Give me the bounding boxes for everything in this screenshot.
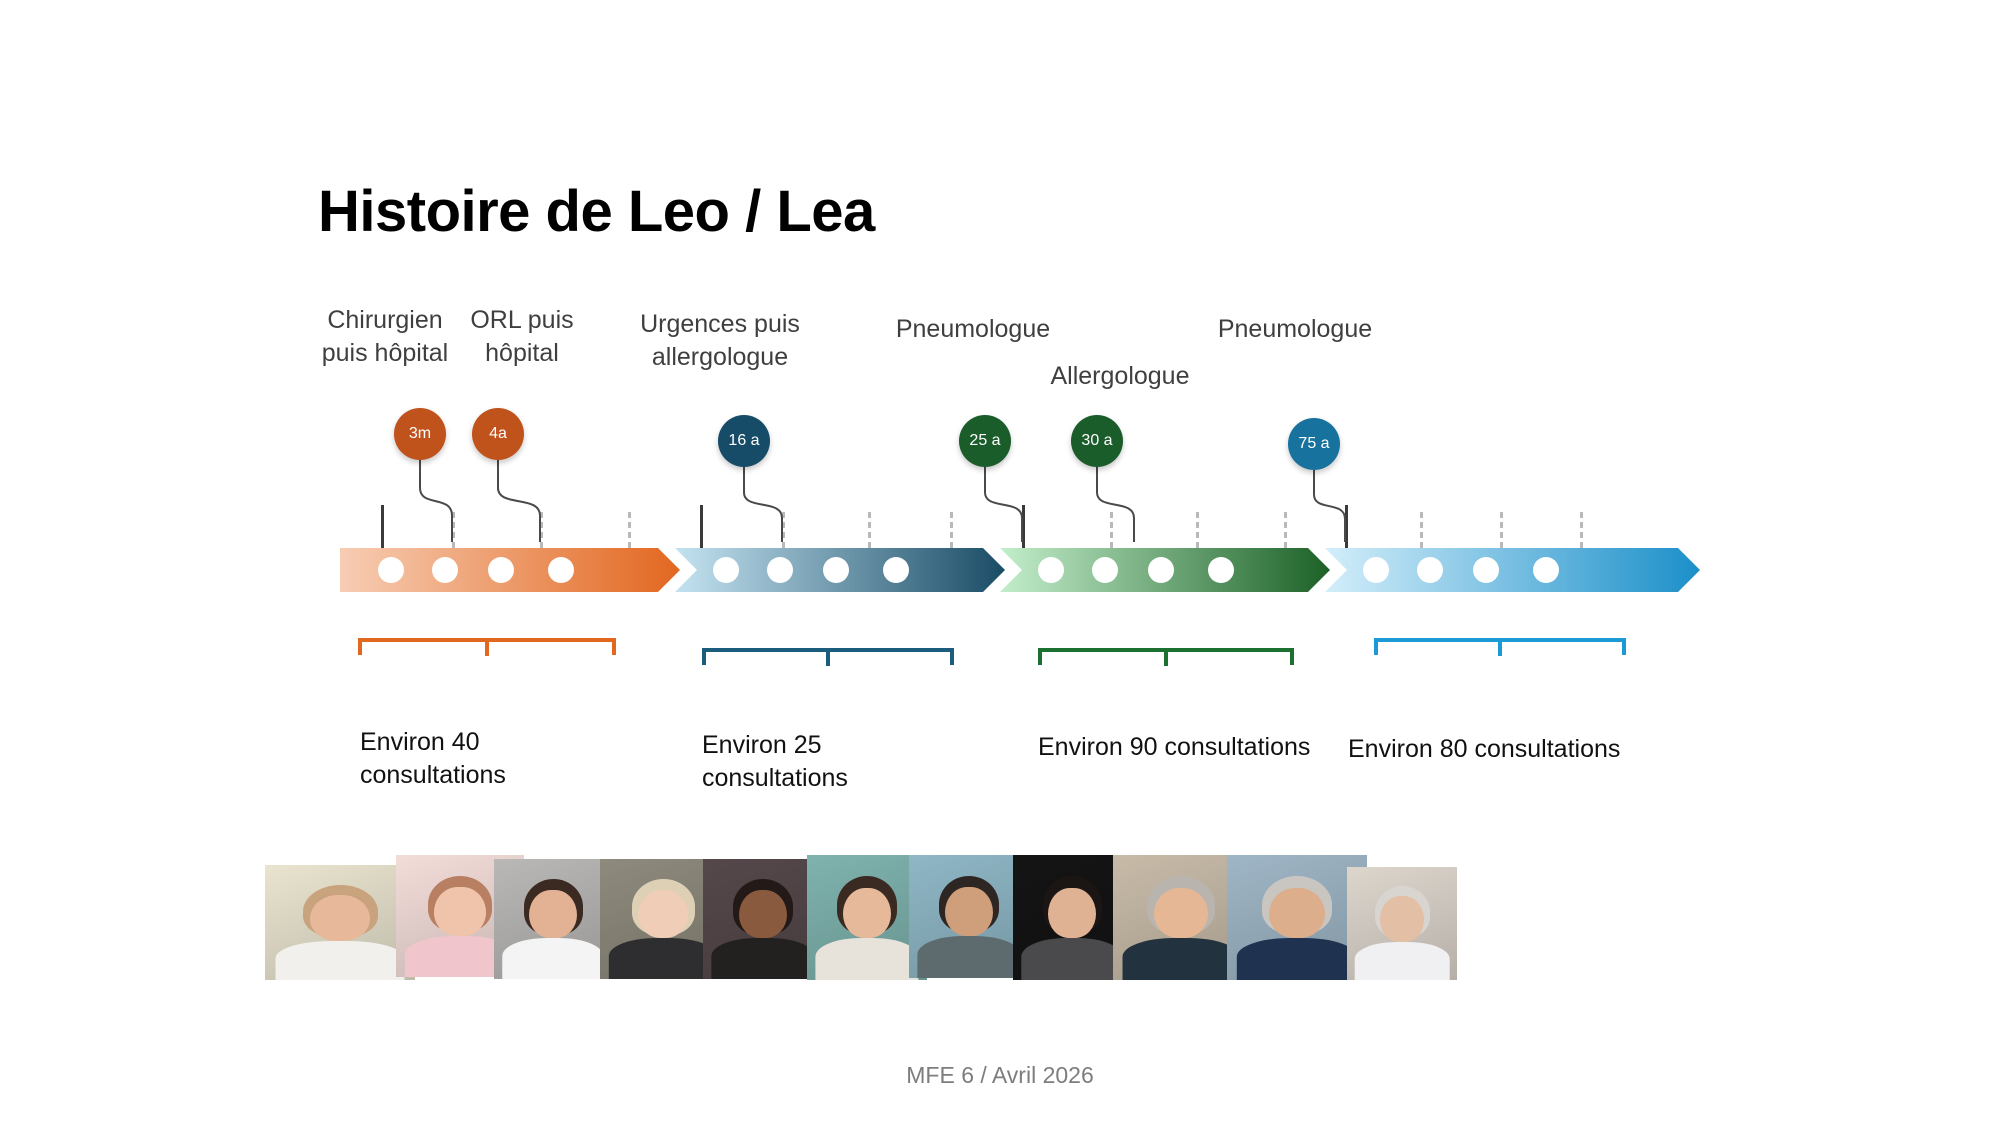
portrait-face — [1048, 888, 1095, 938]
timeline-tick — [950, 512, 953, 548]
timeline-dot — [1092, 557, 1118, 583]
portrait-face — [1154, 888, 1208, 938]
timeline-tick — [628, 512, 631, 548]
timeline-dot — [1473, 557, 1499, 583]
age-marker-3m[interactable]: 3m — [394, 408, 446, 460]
photo-newborn — [265, 865, 415, 980]
segment-enfance[interactable] — [340, 548, 680, 592]
timeline-tick — [700, 505, 703, 548]
timeline-tick — [1580, 512, 1583, 548]
timeline-dot — [767, 557, 793, 583]
bracket-cap-l — [702, 648, 706, 665]
portrait-torso — [1021, 938, 1122, 981]
timeline-tick — [1196, 512, 1199, 548]
timeline-dot — [1533, 557, 1559, 583]
age-marker-75a[interactable]: 75 a — [1288, 418, 1340, 470]
bracket-cap-l — [358, 638, 362, 655]
segment-adolescence[interactable] — [675, 548, 1005, 592]
timeline-tick — [1022, 505, 1025, 548]
portrait-torso — [815, 938, 918, 981]
timeline-tick — [1500, 512, 1503, 548]
timeline-dot — [1148, 557, 1174, 583]
bracket-nub — [485, 642, 489, 656]
bracket-cap-r — [950, 648, 954, 665]
portrait-torso — [1355, 942, 1450, 980]
count-adulte: Environ 90 consultations — [1038, 731, 1310, 764]
caption-orl: ORL puis hôpital — [452, 304, 592, 370]
age-marker-30a[interactable]: 30 a — [1071, 415, 1123, 467]
timeline-dot — [1038, 557, 1064, 583]
photo-older-man — [1227, 855, 1367, 980]
photo-young-man — [909, 855, 1029, 978]
bracket-nub — [826, 652, 830, 666]
timeline-tick — [452, 512, 455, 548]
portrait-face — [638, 890, 688, 938]
portrait-torso — [711, 938, 814, 979]
caption-pneumologue-1: Pneumologue — [878, 313, 1068, 346]
bracket-nub — [1164, 652, 1168, 666]
marker-leader-line — [1089, 467, 1142, 542]
portrait-face — [310, 895, 370, 941]
timeline-tick — [1420, 512, 1423, 548]
photo-strip — [265, 855, 1689, 980]
caption-chirurgien: Chirurgien puis hôpital — [300, 304, 470, 370]
caption-urgences: Urgences puis allergologue — [620, 308, 820, 374]
portrait-torso — [917, 936, 1020, 978]
portrait-face — [739, 890, 787, 938]
portrait-face — [1380, 896, 1424, 941]
timeline-tick — [381, 505, 384, 548]
page-title: Histoire de Leo / Lea — [318, 178, 875, 245]
bracket-cap-l — [1374, 638, 1378, 655]
timeline-dot — [378, 557, 404, 583]
timeline-dot — [432, 557, 458, 583]
photo-elderly-care — [1347, 867, 1457, 980]
timeline-dot — [1363, 557, 1389, 583]
portrait-torso — [609, 938, 717, 979]
timeline-dot — [1208, 557, 1234, 583]
portrait-torso — [276, 941, 405, 980]
age-marker-25a[interactable]: 25 a — [959, 415, 1011, 467]
bracket-adolescence — [702, 648, 954, 674]
timeline-bar — [340, 548, 1700, 592]
portrait-torso — [502, 938, 603, 979]
segment-adulte[interactable] — [1000, 548, 1330, 592]
timeline-dot — [713, 557, 739, 583]
timeline-dot — [883, 557, 909, 583]
count-senior: Environ 80 consultations — [1348, 733, 1620, 766]
portrait-torso — [1237, 938, 1357, 981]
timeline-dot — [1417, 557, 1443, 583]
timeline-tick — [540, 512, 543, 548]
age-marker-16a[interactable]: 16 a — [718, 415, 770, 467]
timeline-tick — [782, 512, 785, 548]
timeline-tick — [868, 512, 871, 548]
portrait-face — [434, 887, 485, 936]
portrait-torso — [1123, 938, 1240, 981]
timeline-tick — [1284, 512, 1287, 548]
timeline-dot — [488, 557, 514, 583]
bracket-cap-r — [1290, 648, 1294, 665]
count-adolescence: Environ 25 consultations — [702, 729, 848, 796]
photo-teen-boy — [703, 859, 823, 979]
caption-pneumologue-2: Pneumologue — [1200, 313, 1390, 346]
timeline-dot — [548, 557, 574, 583]
segment-senior[interactable] — [1325, 548, 1700, 592]
portrait-face — [1269, 888, 1325, 938]
bracket-nub — [1498, 642, 1502, 656]
timeline-tick — [1345, 505, 1348, 548]
timeline-dot — [823, 557, 849, 583]
caption-allergologue: Allergologue — [1030, 360, 1210, 393]
bracket-cap-l — [1038, 648, 1042, 665]
timeline-tick — [1110, 512, 1113, 548]
portrait-face — [945, 887, 993, 936]
age-marker-4a[interactable]: 4a — [472, 408, 524, 460]
portrait-face — [529, 890, 576, 938]
portrait-face — [843, 888, 891, 938]
bracket-senior — [1374, 638, 1626, 664]
bracket-cap-r — [1622, 638, 1626, 655]
count-enfance: Environ 40 consultations — [360, 726, 506, 793]
bracket-enfance — [358, 638, 616, 664]
footer-note: MFE 6 / Avril 2026 — [0, 1062, 2000, 1089]
bracket-cap-r — [612, 638, 616, 655]
bracket-adulte — [1038, 648, 1294, 674]
photo-toddler-boy — [494, 859, 612, 979]
